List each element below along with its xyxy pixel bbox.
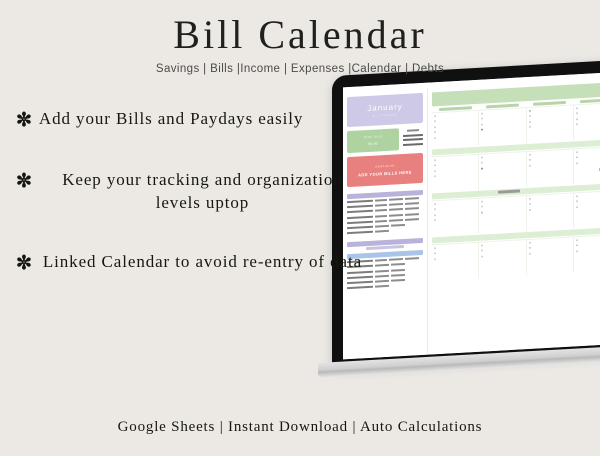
cell (375, 204, 387, 207)
list-item: ✼ Add your Bills and Paydays easily (16, 108, 366, 133)
cell (375, 259, 387, 262)
event-dot (434, 252, 436, 254)
feature-text: Linked Calendar to avoid re-entry of dat… (39, 251, 366, 274)
calendar-cell[interactable] (479, 108, 526, 146)
cell (391, 279, 405, 282)
event-dot (576, 156, 578, 158)
cell (405, 208, 419, 211)
cell (405, 202, 419, 205)
event-dot (529, 121, 531, 123)
event-dot (576, 112, 578, 114)
cell (375, 225, 389, 228)
event-dot (481, 112, 483, 114)
event-dot (529, 203, 531, 205)
cell (391, 268, 405, 271)
event-dot (481, 211, 483, 213)
event-dot (434, 115, 436, 117)
page-subtitle: Savings | Bills |Income | Expenses |Cale… (0, 63, 600, 75)
calendar-cell[interactable] (527, 105, 574, 143)
calendar-cell[interactable] (527, 237, 574, 275)
event-dot (529, 126, 531, 128)
event-dot (481, 244, 483, 246)
event-dot (576, 195, 578, 197)
calendar-cell[interactable] (574, 146, 600, 184)
cell (389, 198, 403, 201)
event-dot (481, 206, 483, 208)
event-dot (434, 175, 436, 177)
event-dot (529, 153, 531, 155)
calendar-cell[interactable] (432, 110, 479, 148)
event-dot (576, 118, 578, 120)
calendar-cell[interactable] (432, 198, 479, 236)
calendar-cell[interactable] (574, 102, 600, 140)
event-dot (529, 247, 531, 249)
cell (375, 269, 389, 272)
calendar-cell[interactable] (479, 240, 526, 278)
page-title: Bill Calendar (0, 14, 600, 56)
event-dot (529, 253, 531, 255)
event-dot (434, 170, 436, 172)
event-dot (434, 159, 436, 161)
event-dot (481, 200, 483, 202)
calendar-cell[interactable] (479, 196, 526, 234)
event-dot (434, 164, 436, 166)
event-dot (576, 162, 578, 164)
event-dot (576, 200, 578, 202)
spreadsheet-app: January BILL CALENDAR TOTAL BILLS $0.00 (343, 72, 600, 360)
event-dot (529, 115, 531, 117)
cell (375, 264, 389, 267)
event-dot (481, 162, 483, 164)
footer-text: Google Sheets | Instant Download | Auto … (0, 419, 600, 436)
event-dot (434, 120, 436, 122)
feature-text: Add your Bills and Paydays easily (39, 108, 366, 131)
asterisk-icon: ✼ (16, 108, 32, 133)
cell (375, 280, 389, 283)
mini-table (403, 127, 423, 148)
cell (375, 275, 389, 278)
calendar-cell[interactable] (527, 149, 574, 187)
event-dot (481, 167, 483, 169)
event-dot (434, 247, 436, 249)
cell (405, 257, 419, 260)
cell (391, 224, 405, 227)
cell (389, 214, 403, 217)
event-dot (576, 244, 578, 246)
event-dot (529, 209, 531, 211)
event-dot (434, 258, 436, 260)
event-dot (529, 165, 531, 167)
list-item: ✼ Linked Calendar to avoid re-entry of d… (16, 251, 366, 276)
laptop-lid: January BILL CALENDAR TOTAL BILLS $0.00 (332, 60, 600, 371)
event-dot (481, 255, 483, 257)
laptop-mockup: January BILL CALENDAR TOTAL BILLS $0.00 (332, 76, 600, 396)
cell (375, 230, 389, 233)
event-dot (434, 137, 436, 139)
event-dot (434, 219, 436, 221)
mini-table-row (403, 134, 423, 137)
calendar-event-tag (498, 190, 520, 194)
table-title (366, 245, 404, 250)
cell (375, 199, 387, 202)
month-title: January (367, 102, 402, 113)
event-dot (481, 123, 483, 125)
event-dot (576, 151, 578, 153)
event-dot (481, 156, 483, 158)
event-dot (529, 109, 531, 111)
mini-table-row (403, 143, 423, 146)
calendar-cell[interactable] (432, 242, 479, 280)
event-dot (434, 214, 436, 216)
page-header: Bill Calendar Savings | Bills |Income | … (0, 14, 600, 75)
month-subtitle: BILL CALENDAR (372, 113, 397, 117)
laptop-screen: January BILL CALENDAR TOTAL BILLS $0.00 (343, 72, 600, 360)
asterisk-icon: ✼ (16, 169, 32, 194)
alert-value: ADD YOUR BILLS HERE (358, 169, 412, 177)
cell (375, 285, 389, 288)
calendar-panel (427, 78, 600, 355)
cell (389, 219, 403, 222)
cell (375, 209, 387, 212)
mini-table-row (403, 138, 423, 141)
event-dot (529, 159, 531, 161)
cell (391, 263, 405, 266)
asterisk-icon: ✼ (16, 251, 32, 276)
event-dot (481, 129, 483, 131)
event-dot (576, 107, 578, 109)
summary-label: TOTAL BILLS (363, 135, 382, 139)
cell (405, 218, 419, 221)
event-dot (576, 250, 578, 252)
cell (375, 220, 387, 223)
cell (389, 203, 403, 206)
event-dot (434, 131, 436, 133)
event-dot (529, 241, 531, 243)
event-dot (576, 239, 578, 241)
event-dot (434, 203, 436, 205)
calendar-cell[interactable] (432, 154, 479, 192)
cell (405, 213, 419, 216)
cell (391, 274, 405, 277)
list-item: ✼ Keep your tracking and organization le… (16, 169, 366, 215)
event-dot (434, 126, 436, 128)
alert-label: REMAINING (375, 164, 394, 168)
cell (375, 214, 387, 217)
feature-text: Keep your tracking and organization leve… (39, 169, 366, 215)
event-dot (434, 208, 436, 210)
calendar-cell[interactable] (527, 193, 574, 231)
mini-table-row (407, 129, 419, 132)
feature-list: ✼ Add your Bills and Paydays easily ✼ Ke… (16, 108, 366, 311)
event-dot (576, 123, 578, 125)
event-dot (529, 197, 531, 199)
calendar-cell[interactable] (479, 152, 526, 190)
cell (389, 258, 403, 261)
event-dot (481, 118, 483, 120)
calendar-cell[interactable] (574, 190, 600, 228)
event-dot (576, 206, 578, 208)
event-dot (481, 250, 483, 252)
cell (389, 208, 403, 211)
calendar-cell[interactable] (574, 234, 600, 272)
summary-value: $0.00 (368, 141, 377, 146)
cell (405, 197, 419, 200)
